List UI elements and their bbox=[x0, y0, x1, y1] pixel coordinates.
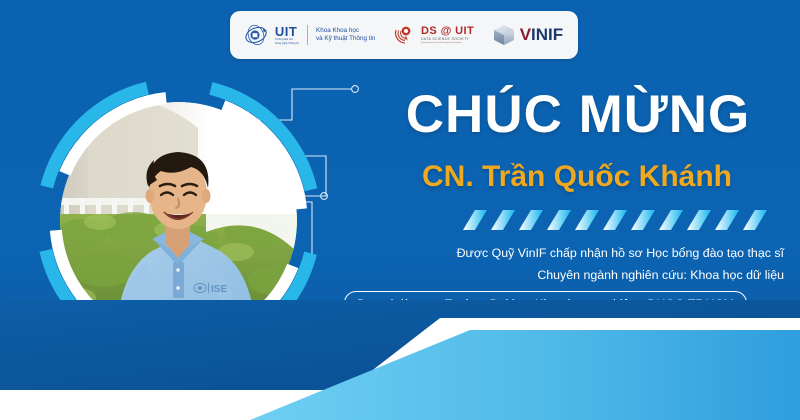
uit-faculty-name: Khoa Khoa học và Kỹ thuật Thông tin bbox=[316, 27, 375, 44]
uit-faculty-line2: và Kỹ thuật Thông tin bbox=[316, 35, 375, 44]
vinif-rest: INIF bbox=[531, 25, 563, 44]
uit-wordmark: UIT Trường Đại học Công nghệ Thông tin bbox=[275, 25, 299, 45]
recipient-name: CN. Trần Quốc Khánh bbox=[362, 160, 792, 193]
page-title: CHÚC MỪNG bbox=[372, 88, 784, 141]
congratulations-banner: UIT Trường Đại học Công nghệ Thông tin K… bbox=[0, 0, 800, 420]
ds-uit-logo: DS @ UIT DATA SCIENCE SOCIETY Empowering… bbox=[393, 24, 474, 46]
uit-faculty-line1: Khoa Khoa học bbox=[316, 27, 375, 36]
decor-stripes-top bbox=[455, 208, 785, 232]
vinif-cube-icon bbox=[492, 23, 516, 47]
uit-acronym: UIT bbox=[275, 25, 299, 38]
uit-divider bbox=[307, 25, 308, 45]
decor-bottom-swoosh bbox=[0, 300, 800, 420]
vinif-initial: V bbox=[520, 25, 531, 44]
uit-logo: UIT Trường Đại học Công nghệ Thông tin K… bbox=[245, 24, 376, 46]
uit-emblem-icon bbox=[245, 24, 271, 46]
vinif-logo: VINIF bbox=[492, 23, 563, 47]
partner-logo-bar: UIT Trường Đại học Công nghệ Thông tin K… bbox=[230, 11, 578, 59]
detail-line-2: Chuyên ngành nghiên cứu: Khoa học dữ liệ… bbox=[372, 265, 784, 287]
connector-node-1 bbox=[352, 86, 359, 93]
detail-line-1: Được Quỹ VinIF chấp nhận hồ sơ Học bổng … bbox=[372, 243, 784, 265]
details-text: Được Quỹ VinIF chấp nhận hồ sơ Học bổng … bbox=[372, 243, 790, 286]
ds-uit-emblem-icon bbox=[393, 24, 417, 46]
ds-uit-subtitle: DATA SCIENCE SOCIETY bbox=[421, 38, 474, 41]
ds-uit-tagline: Empowering the world through data insigh… bbox=[421, 42, 474, 44]
ds-uit-wordmark: DS @ UIT DATA SCIENCE SOCIETY Empowering… bbox=[421, 26, 474, 45]
vinif-wordmark: VINIF bbox=[520, 25, 563, 45]
uit-caption-line2: Công nghệ Thông tin bbox=[275, 43, 299, 46]
ds-uit-acronym: DS @ UIT bbox=[421, 26, 474, 37]
connector-node-2 bbox=[321, 193, 328, 200]
